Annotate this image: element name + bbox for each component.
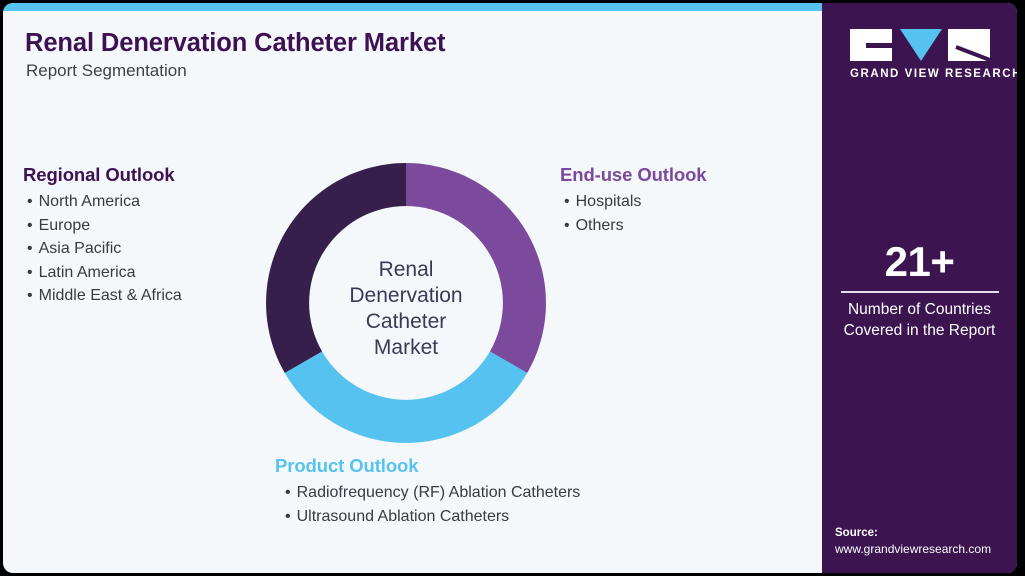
report-card: Renal Denervation Catheter Market Report…: [3, 3, 1017, 573]
list-item: Middle East & Africa: [27, 284, 263, 308]
enduse-outlook-title: End-use Outlook: [560, 164, 810, 186]
product-outlook-list: Radiofrequency (RF) Ablation Catheters U…: [275, 481, 775, 528]
regional-outlook-block: Regional Outlook North America Europe As…: [23, 164, 263, 308]
regional-outlook-title: Regional Outlook: [23, 164, 263, 186]
enduse-outlook-block: End-use Outlook Hospitals Others: [560, 164, 810, 237]
donut-center-line-4: Market: [374, 336, 438, 359]
donut-center-line-1: Renal: [379, 258, 434, 281]
stat-value: 21+: [822, 239, 1017, 285]
list-item: Ultrasound Ablation Catheters: [285, 505, 775, 529]
stat-divider: [841, 291, 999, 293]
product-outlook-block: Product Outlook Radiofrequency (RF) Abla…: [275, 455, 775, 528]
list-item: Asia Pacific: [27, 237, 263, 261]
infographic-root: Renal Denervation Catheter Market Report…: [0, 0, 1025, 576]
list-item: Hospitals: [564, 190, 810, 214]
stat-label-line-1: Number of Countries: [822, 299, 1017, 320]
list-item: Latin America: [27, 261, 263, 285]
letter-r-icon: [948, 29, 990, 61]
brand-name: GRAND VIEW RESEARCH: [850, 68, 990, 80]
letter-g-cut: [866, 43, 896, 48]
product-outlook-title: Product Outlook: [275, 455, 775, 477]
right-sidebar: GRAND VIEW RESEARCH 21+ Number of Countr…: [822, 3, 1017, 573]
page-title: Renal Denervation Catheter Market: [25, 29, 445, 58]
list-item: North America: [27, 190, 263, 214]
logo-marks: [850, 29, 990, 61]
list-item: Radiofrequency (RF) Ablation Catheters: [285, 481, 775, 505]
source-url[interactable]: www.grandviewresearch.com: [835, 541, 1017, 558]
page-subtitle: Report Segmentation: [26, 61, 187, 81]
letter-r-cut: [955, 45, 990, 61]
donut-center-line-2: Denervation: [349, 284, 462, 307]
donut-slice-product[interactable]: [285, 352, 527, 443]
letter-v-triangle-icon: [900, 29, 942, 61]
letter-g-icon: [850, 29, 892, 61]
countries-stat-block: 21+ Number of Countries Covered in the R…: [822, 239, 1017, 341]
donut-center-line-3: Catheter: [366, 310, 447, 333]
list-item: Others: [564, 214, 810, 238]
source-label: Source:: [835, 525, 1017, 541]
regional-outlook-list: North America Europe Asia Pacific Latin …: [23, 190, 263, 308]
stat-label-line-2: Covered in the Report: [822, 320, 1017, 341]
brand-logo[interactable]: GRAND VIEW RESEARCH: [850, 29, 990, 80]
source-block: Source: www.grandviewresearch.com: [835, 525, 1017, 558]
list-item: Europe: [27, 214, 263, 238]
enduse-outlook-list: Hospitals Others: [560, 190, 810, 237]
segmentation-donut-chart: Renal Denervation Catheter Market: [266, 163, 546, 443]
